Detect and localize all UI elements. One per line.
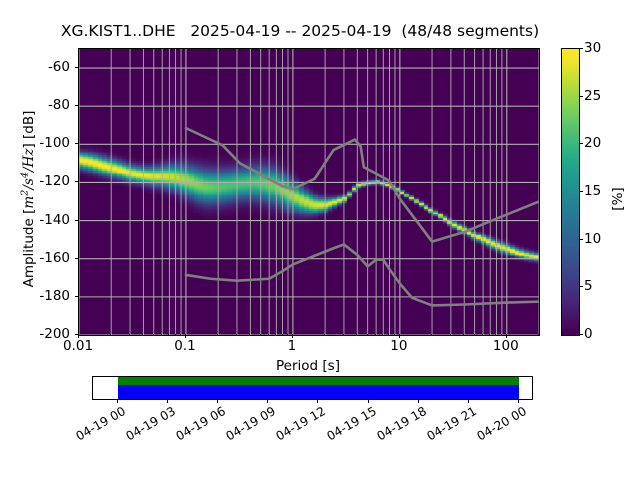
page-title: XG.KIST1..DHE 2025-04-19 -- 2025-04-19 (…: [0, 22, 600, 40]
coverage-tick-mark: [117, 399, 118, 403]
colorbar-tick-label: 25: [584, 88, 601, 104]
coverage-tick-label: 04-19 15: [324, 404, 378, 444]
y-tick-mark: [75, 105, 79, 106]
y-tick-mark: [75, 258, 79, 259]
x-tick-label: 100: [493, 338, 519, 354]
coverage-tick-label: 04-19 12: [274, 404, 328, 444]
coverage-band-green: [118, 377, 519, 385]
y-tick-mark: [75, 296, 79, 297]
low-noise-model-line: [186, 244, 539, 305]
coverage-tick-mark: [418, 399, 419, 403]
y-axis-label: Amplitude [m2/s4/Hz] [dB]: [21, 84, 37, 314]
coverage-band-blue: [118, 385, 519, 399]
x-minor-tick-mark: [343, 334, 344, 336]
x-minor-tick-mark: [450, 334, 451, 336]
ppsd-plot-area[interactable]: [78, 48, 540, 336]
coverage-tick-label: 04-19 06: [174, 404, 228, 444]
time-coverage-bar[interactable]: [92, 376, 533, 400]
x-minor-tick-mark: [180, 334, 181, 336]
colorbar-gradient: [562, 49, 579, 335]
y-tick-label: -180: [8, 288, 70, 304]
x-minor-tick-mark: [324, 334, 325, 336]
y-tick-mark: [75, 67, 79, 68]
y-tick-label: -160: [8, 250, 70, 266]
x-minor-tick-mark: [217, 334, 218, 336]
y-tick-mark: [75, 143, 79, 144]
coverage-tick-mark: [468, 399, 469, 403]
x-tick-mark: [78, 334, 79, 338]
x-minor-tick-mark: [161, 334, 162, 336]
x-tick-mark: [506, 334, 507, 338]
coverage-tick-label: 04-19 03: [124, 404, 178, 444]
noise-model-curves: [79, 49, 539, 335]
x-minor-tick-mark: [482, 334, 483, 336]
x-minor-tick-mark: [249, 334, 250, 336]
coverage-tick-mark: [518, 399, 519, 403]
y-tick-label: -200: [8, 326, 70, 342]
coverage-tick-label: 04-19 18: [374, 404, 428, 444]
x-minor-tick-mark: [236, 334, 237, 336]
x-tick-label: 1: [288, 338, 297, 354]
colorbar-label: [%]: [610, 169, 626, 229]
x-tick-mark: [399, 334, 400, 338]
coverage-tick-mark: [317, 399, 318, 403]
y-tick-mark: [75, 220, 79, 221]
x-minor-tick-mark: [474, 334, 475, 336]
colorbar[interactable]: [561, 48, 580, 336]
x-axis-label: Period [s]: [78, 358, 538, 374]
coverage-tick-label: 04-19 09: [224, 404, 278, 444]
x-minor-tick-mark: [153, 334, 154, 336]
x-minor-tick-mark: [356, 334, 357, 336]
high-noise-model-line: [186, 128, 539, 241]
y-tick-mark: [75, 181, 79, 182]
x-minor-tick-mark: [367, 334, 368, 336]
coverage-tick-mark: [217, 399, 218, 403]
colorbar-tick-label: 0: [584, 326, 593, 342]
x-minor-tick-mark: [129, 334, 130, 336]
x-tick-label: 0.1: [174, 338, 195, 354]
x-minor-tick-mark: [538, 334, 539, 336]
coverage-tick-mark: [267, 399, 268, 403]
coverage-tick-label: 04-19 21: [424, 404, 478, 444]
y-tick-label: -120: [8, 173, 70, 189]
colorbar-tick-mark: [579, 239, 583, 240]
x-minor-tick-mark: [168, 334, 169, 336]
x-minor-tick-mark: [287, 334, 288, 336]
y-tick-label: -80: [8, 97, 70, 113]
coverage-tick-mark: [167, 399, 168, 403]
x-minor-tick-mark: [489, 334, 490, 336]
x-minor-tick-mark: [268, 334, 269, 336]
x-minor-tick-mark: [388, 334, 389, 336]
x-minor-tick-mark: [142, 334, 143, 336]
colorbar-tick-label: 30: [584, 40, 601, 56]
coverage-tick-label: 04-20 00: [474, 404, 528, 444]
y-tick-label: -140: [8, 212, 70, 228]
x-minor-tick-mark: [394, 334, 395, 336]
x-minor-tick-mark: [282, 334, 283, 336]
x-minor-tick-mark: [375, 334, 376, 336]
x-minor-tick-mark: [275, 334, 276, 336]
y-tick-label: -60: [8, 59, 70, 75]
colorbar-tick-mark: [579, 143, 583, 144]
y-tick-label: -100: [8, 135, 70, 151]
ppsd-figure: XG.KIST1..DHE 2025-04-19 -- 2025-04-19 (…: [0, 0, 640, 480]
x-minor-tick-mark: [110, 334, 111, 336]
colorbar-tick-label: 5: [584, 278, 593, 294]
coverage-tick-label: 04-19 00: [74, 404, 128, 444]
x-minor-tick-mark: [501, 334, 502, 336]
colorbar-tick-mark: [579, 96, 583, 97]
x-tick-label: 10: [390, 338, 407, 354]
colorbar-tick-mark: [579, 286, 583, 287]
x-tick-mark: [292, 334, 293, 338]
coverage-tick-mark: [368, 399, 369, 403]
x-tick-label: 0.01: [63, 338, 93, 354]
x-minor-tick-mark: [175, 334, 176, 336]
colorbar-tick-mark: [579, 48, 583, 49]
colorbar-tick-label: 20: [584, 135, 601, 151]
x-minor-tick-mark: [431, 334, 432, 336]
x-minor-tick-mark: [382, 334, 383, 336]
colorbar-tick-mark: [579, 334, 583, 335]
colorbar-tick-label: 10: [584, 231, 601, 247]
colorbar-tick-label: 15: [584, 183, 601, 199]
x-minor-tick-mark: [495, 334, 496, 336]
x-minor-tick-mark: [463, 334, 464, 336]
colorbar-tick-mark: [579, 191, 583, 192]
x-minor-tick-mark: [260, 334, 261, 336]
x-tick-mark: [185, 334, 186, 338]
